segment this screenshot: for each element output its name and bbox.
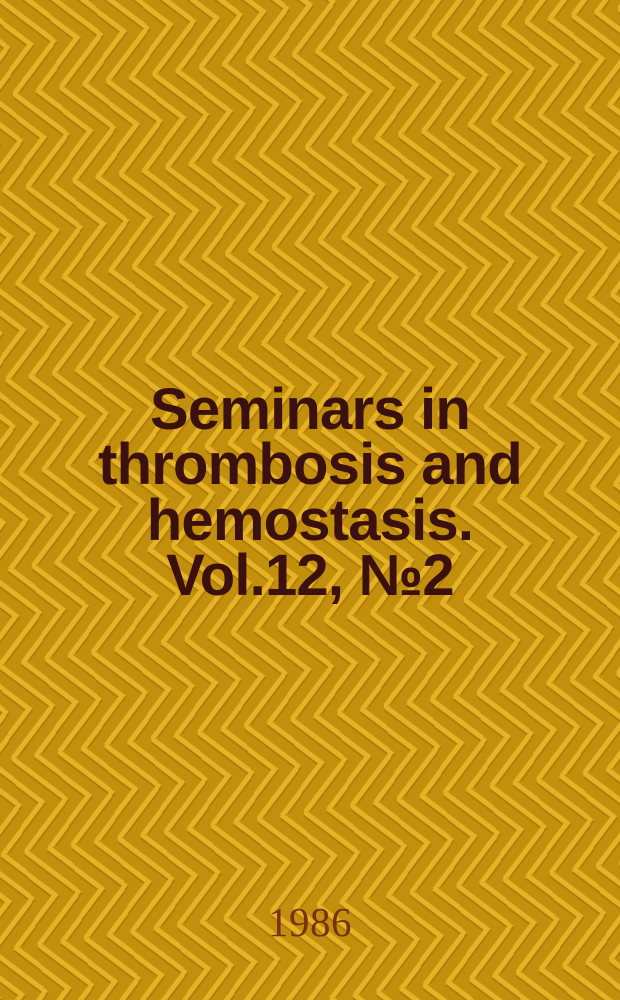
title-line-4-volume-issue: Vol.12, №2	[8, 548, 612, 603]
title-line-1: Seminars in	[8, 382, 612, 437]
title-line-3: hemostasis.	[8, 493, 612, 548]
cover-title: Seminars in thrombosis and hemostasis. V…	[0, 382, 620, 604]
journal-cover: Seminars in thrombosis and hemostasis. V…	[0, 0, 620, 1000]
title-line-2: thrombosis and	[8, 437, 612, 492]
publication-year: 1986	[0, 898, 620, 946]
